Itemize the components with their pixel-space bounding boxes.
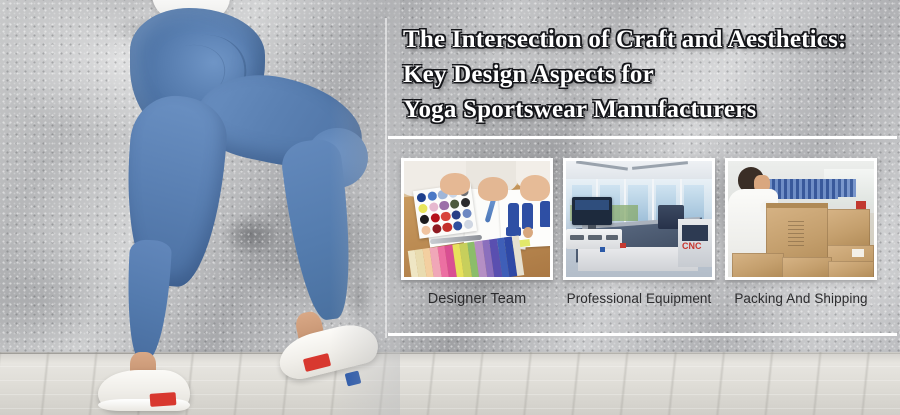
control-console [566, 229, 622, 249]
machine-logo: CNC [682, 241, 702, 251]
designer-hand-1 [440, 173, 470, 195]
content-panel: The Intersection of Craft and Aesthetics… [385, 0, 900, 415]
feature-card-packing-and-shipping[interactable]: Packing And Shipping [725, 158, 877, 307]
feature-card-designer-team[interactable]: Designer Team [401, 158, 553, 307]
professional-equipment-photo: CNC [563, 158, 715, 280]
front-sneaker-red-accent [150, 392, 177, 407]
designer-team-photo [401, 158, 553, 280]
carton-box [732, 253, 784, 279]
page-title: The Intersection of Craft and Aesthetics… [403, 22, 898, 127]
feature-card-caption: Designer Team [401, 291, 553, 307]
model-in-blue-leggings [0, 0, 400, 415]
designer-hand-3 [520, 175, 550, 201]
feature-card-caption: Professional Equipment [563, 291, 715, 306]
carton-box [824, 209, 870, 249]
garment-sketch-detail [506, 227, 521, 236]
computer-monitor [572, 197, 612, 225]
garment-sketch-2 [522, 203, 533, 229]
sketch-face [523, 227, 533, 238]
leggings-front-shin [124, 239, 172, 361]
back-sneaker-blue-accent [345, 370, 362, 386]
garment-sketch-1 [508, 203, 519, 229]
promo-banner: The Intersection of Craft and Aesthetics… [0, 0, 900, 415]
blue-indicator [600, 247, 605, 252]
carton-box [782, 257, 832, 279]
feature-card-caption: Packing And Shipping [725, 291, 877, 306]
back-sneaker [274, 319, 381, 384]
designer-hand-2 [478, 177, 508, 201]
window-pane [684, 185, 704, 221]
box-print-marks [788, 221, 804, 249]
divider-top [388, 136, 897, 139]
feature-cards: Designer Team [401, 158, 877, 307]
packing-and-shipping-photo [725, 158, 877, 280]
blue-stacked-goods-secondary [838, 179, 856, 197]
red-item-on-shelf [856, 201, 866, 209]
shipping-label [852, 249, 864, 257]
red-indicator [620, 243, 626, 248]
vertical-divider [385, 18, 387, 338]
feature-card-professional-equipment[interactable]: CNC Professional Equipment [563, 158, 715, 307]
divider-bottom [388, 333, 897, 336]
carton-box [828, 261, 874, 279]
garment-sketch-3 [540, 201, 551, 227]
